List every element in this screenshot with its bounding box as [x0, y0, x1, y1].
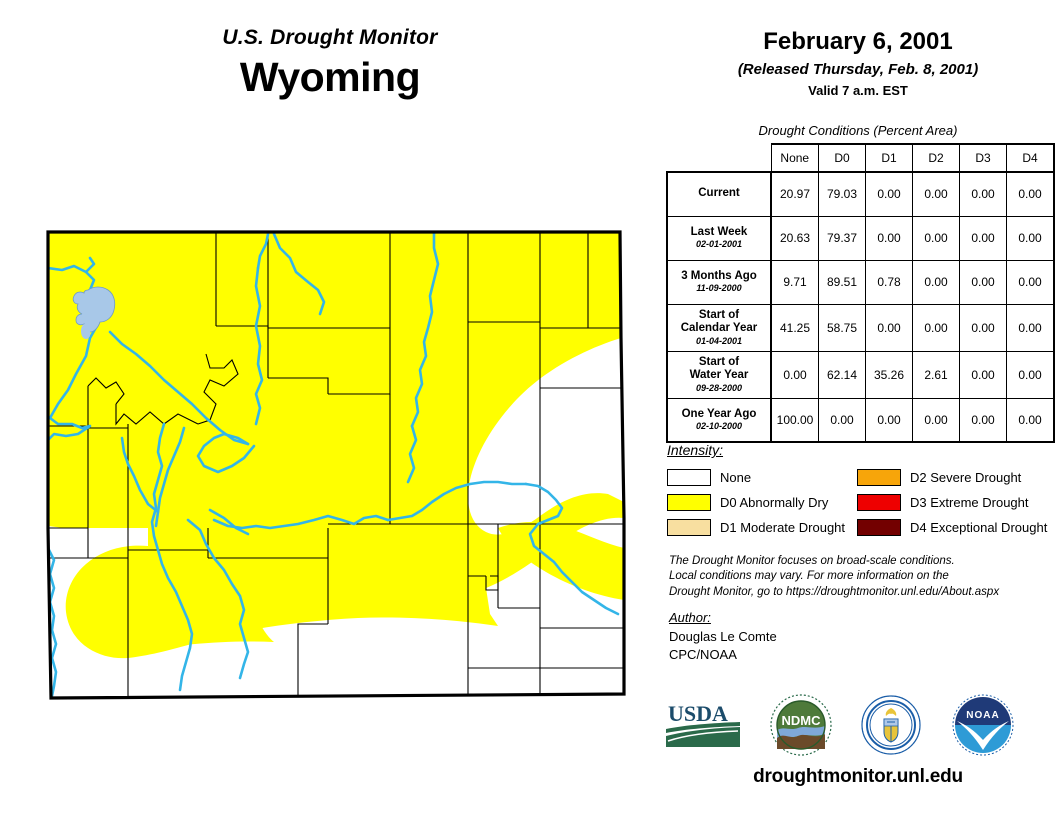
- table-row: Current 20.97 79.03 0.00 0.00 0.00 0.00: [667, 172, 1054, 216]
- swatch-none: [667, 469, 711, 486]
- column-header-none: None: [771, 144, 819, 172]
- disclaimer-line-2: Local conditions may vary. For more info…: [669, 569, 1049, 584]
- cell-d2: 0.00: [913, 216, 960, 260]
- swatch-d1: [667, 519, 711, 536]
- row-date: 01-04-2001: [670, 336, 768, 347]
- column-header-d4: D4: [1007, 144, 1055, 172]
- cell-d4: 0.00: [1007, 260, 1055, 304]
- row-name: One Year Ago: [670, 408, 768, 422]
- disclaimer-line-1: The Drought Monitor focuses on broad-sca…: [669, 554, 1049, 569]
- intensity-legend-right-column: D2 Severe Drought D3 Extreme Drought D4 …: [857, 465, 1047, 540]
- cell-d4: 0.00: [1007, 304, 1055, 351]
- row-name: 3 Months Ago: [670, 270, 768, 284]
- drought-conditions-table: None D0 D1 D2 D3 D4 Current 20.97 79.03 …: [666, 143, 1055, 443]
- cell-d0: 0.00: [819, 398, 866, 442]
- row-label-start-of-water-year: Start ofWater Year 09-28-2000: [667, 351, 771, 398]
- legend-item-none: None: [667, 465, 857, 490]
- row-label-3-months-ago: 3 Months Ago 11-09-2000: [667, 260, 771, 304]
- cell-d4: 0.00: [1007, 398, 1055, 442]
- column-header-d1: D1: [866, 144, 913, 172]
- cell-d1: 0.00: [866, 398, 913, 442]
- table-row: Start ofWater Year 09-28-2000 0.00 62.14…: [667, 351, 1054, 398]
- cell-d3: 0.00: [960, 351, 1007, 398]
- cell-none: 41.25: [771, 304, 819, 351]
- report-header: February 6, 2001 (Released Thursday, Feb…: [660, 28, 1056, 98]
- cell-d1: 0.00: [866, 216, 913, 260]
- table-row: Last Week 02-01-2001 20.63 79.37 0.00 0.…: [667, 216, 1054, 260]
- author-name: Douglas Le Comte: [669, 628, 1049, 646]
- cell-d0: 89.51: [819, 260, 866, 304]
- drought-monitor-supertitle: U.S. Drought Monitor: [0, 26, 660, 50]
- cell-d2: 0.00: [913, 260, 960, 304]
- cell-none: 9.71: [771, 260, 819, 304]
- column-header-d2: D2: [913, 144, 960, 172]
- wyoming-drought-map[interactable]: [28, 228, 640, 704]
- legend-item-d0: D0 Abnormally Dry: [667, 490, 857, 515]
- legend-label-d0: D0 Abnormally Dry: [720, 495, 828, 510]
- table-row: Start ofCalendar Year 01-04-2001 41.25 5…: [667, 304, 1054, 351]
- cell-d0: 58.75: [819, 304, 866, 351]
- cell-d2: 0.00: [913, 172, 960, 216]
- cell-d3: 0.00: [960, 260, 1007, 304]
- cell-d0: 79.37: [819, 216, 866, 260]
- svg-text:NDMC: NDMC: [782, 713, 822, 728]
- site-url: droughtmonitor.unl.edu: [660, 766, 1056, 788]
- logo-row: USDA NDMC NOAA: [660, 692, 1050, 758]
- cell-d1: 35.26: [866, 351, 913, 398]
- disclaimer-text: The Drought Monitor focuses on broad-sca…: [669, 554, 1049, 600]
- map-title-block: U.S. Drought Monitor Wyoming: [0, 26, 660, 101]
- cell-d4: 0.00: [1007, 216, 1055, 260]
- cell-none: 0.00: [771, 351, 819, 398]
- row-label-one-year-ago: One Year Ago 02-10-2000: [667, 398, 771, 442]
- table-header-row: None D0 D1 D2 D3 D4: [667, 144, 1054, 172]
- row-label-last-week: Last Week 02-01-2001: [667, 216, 771, 260]
- cell-d4: 0.00: [1007, 172, 1055, 216]
- cell-d3: 0.00: [960, 216, 1007, 260]
- legend-label-d2: D2 Severe Drought: [910, 470, 1021, 485]
- row-date: 02-10-2000: [670, 421, 768, 432]
- column-header-d0: D0: [819, 144, 866, 172]
- cell-d1: 0.00: [866, 304, 913, 351]
- legend-item-d2: D2 Severe Drought: [857, 465, 1047, 490]
- cell-d0: 62.14: [819, 351, 866, 398]
- report-date: February 6, 2001: [660, 28, 1056, 56]
- column-header-d3: D3: [960, 144, 1007, 172]
- cell-none: 20.97: [771, 172, 819, 216]
- row-name: Start ofWater Year: [670, 356, 768, 383]
- cell-d3: 0.00: [960, 304, 1007, 351]
- author-block: Author: Douglas Le Comte CPC/NOAA: [669, 610, 1049, 663]
- cell-d2: 0.00: [913, 304, 960, 351]
- cell-none: 100.00: [771, 398, 819, 442]
- cell-d1: 0.00: [866, 172, 913, 216]
- cell-d2: 0.00: [913, 398, 960, 442]
- row-name: Last Week: [670, 226, 768, 240]
- table-corner-cell: [667, 144, 771, 172]
- legend-label-d4: D4 Exceptional Drought: [910, 520, 1047, 535]
- author-label: Author:: [669, 610, 1049, 625]
- noaa-logo: NOAA: [952, 694, 1014, 756]
- page-title: Wyoming: [0, 54, 660, 101]
- cell-none: 20.63: [771, 216, 819, 260]
- cell-d3: 0.00: [960, 172, 1007, 216]
- swatch-d0: [667, 494, 711, 511]
- table-row: One Year Ago 02-10-2000 100.00 0.00 0.00…: [667, 398, 1054, 442]
- svg-text:NOAA: NOAA: [966, 710, 999, 721]
- intensity-legend-left-column: None D0 Abnormally Dry D1 Moderate Droug…: [667, 465, 857, 540]
- department-of-commerce-seal-icon: [860, 694, 922, 756]
- author-organization: CPC/NOAA: [669, 646, 1049, 664]
- ndmc-logo: NDMC: [770, 694, 832, 756]
- disclaimer-line-3: Drought Monitor, go to https://droughtmo…: [669, 585, 1049, 600]
- intensity-legend-title: Intensity:: [667, 442, 1047, 458]
- released-date: (Released Thursday, Feb. 8, 2001): [660, 61, 1056, 78]
- swatch-d4: [857, 519, 901, 536]
- row-date: 09-28-2000: [670, 383, 768, 394]
- legend-item-d1: D1 Moderate Drought: [667, 515, 857, 540]
- row-date: 11-09-2000: [670, 283, 768, 294]
- row-label-start-of-calendar-year: Start ofCalendar Year 01-04-2001: [667, 304, 771, 351]
- usda-logo: USDA: [664, 699, 744, 751]
- cell-d3: 0.00: [960, 398, 1007, 442]
- svg-text:USDA: USDA: [668, 701, 728, 726]
- legend-label-none: None: [720, 470, 751, 485]
- table-caption: Drought Conditions (Percent Area): [660, 123, 1056, 138]
- map-fill-layer: [28, 228, 640, 704]
- row-date: 02-01-2001: [670, 239, 768, 250]
- legend-label-d3: D3 Extreme Drought: [910, 495, 1029, 510]
- table-row: 3 Months Ago 11-09-2000 9.71 89.51 0.78 …: [667, 260, 1054, 304]
- intensity-legend: Intensity: None D0 Abnormally Dry D1 Mod…: [667, 442, 1047, 540]
- cell-d2: 2.61: [913, 351, 960, 398]
- row-name: Current: [670, 187, 768, 201]
- legend-item-d3: D3 Extreme Drought: [857, 490, 1047, 515]
- table-body: Current 20.97 79.03 0.00 0.00 0.00 0.00 …: [667, 172, 1054, 442]
- cell-d1: 0.78: [866, 260, 913, 304]
- swatch-d3: [857, 494, 901, 511]
- valid-time: Valid 7 a.m. EST: [660, 83, 1056, 98]
- swatch-d2: [857, 469, 901, 486]
- map-svg[interactable]: [28, 228, 640, 704]
- row-label-current: Current: [667, 172, 771, 216]
- cell-d0: 79.03: [819, 172, 866, 216]
- legend-label-d1: D1 Moderate Drought: [720, 520, 845, 535]
- cell-d4: 0.00: [1007, 351, 1055, 398]
- row-name: Start ofCalendar Year: [670, 309, 768, 336]
- legend-item-d4: D4 Exceptional Drought: [857, 515, 1047, 540]
